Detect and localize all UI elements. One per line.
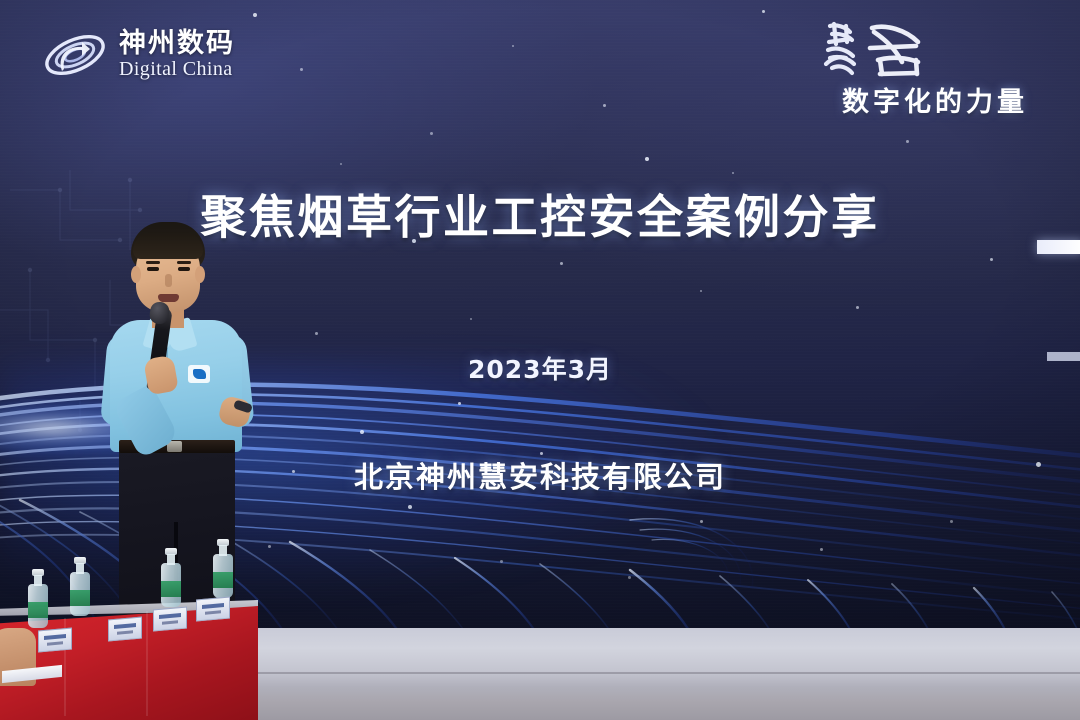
speaker-ear-right: [195, 266, 205, 283]
water-bottle: [161, 563, 181, 607]
bottle-label: [161, 581, 181, 597]
bottle-label: [28, 602, 48, 618]
speaker-nose: [165, 274, 172, 287]
speaker-eyebrow-right: [177, 261, 191, 264]
water-bottle: [213, 554, 233, 598]
brand-wordmark: 神州数码 Digital China: [119, 29, 235, 81]
brand-name-en: Digital China: [119, 58, 235, 81]
name-card: [196, 597, 230, 622]
stage-photo-scene: 神州数码 Digital China: [0, 0, 1080, 720]
speaker-eye-right: [178, 267, 190, 271]
bottle-neck: [34, 575, 42, 586]
speaker-ear-left: [131, 266, 141, 283]
water-bottle: [70, 572, 90, 616]
bottle-neck: [167, 554, 175, 565]
bottle-neck: [76, 563, 84, 574]
name-card: [38, 628, 72, 653]
speaker-chest-logo-icon: [188, 365, 210, 383]
bottle-neck: [219, 545, 227, 556]
speaker-mouth: [158, 294, 179, 302]
event-theme-lockup: 数字化的力量: [800, 18, 1062, 116]
speaker-eyebrow-left: [146, 261, 160, 264]
digital-china-logo: 神州数码 Digital China: [42, 20, 332, 90]
name-card: [153, 607, 187, 632]
bottle-label: [213, 572, 233, 588]
juhe-calligraphy-icon: [820, 18, 950, 80]
bottle-label: [70, 590, 90, 606]
name-card: [108, 617, 142, 642]
table-cloth-fold: [146, 611, 148, 716]
speaker-hair-front: [133, 232, 203, 259]
theme-subtitle: 数字化的力量: [842, 80, 1028, 119]
brand-name-cn: 神州数码: [119, 29, 235, 58]
water-bottle: [28, 584, 48, 628]
speaker-eye-left: [147, 267, 159, 271]
digital-china-spiral-logo-icon: [42, 25, 108, 85]
